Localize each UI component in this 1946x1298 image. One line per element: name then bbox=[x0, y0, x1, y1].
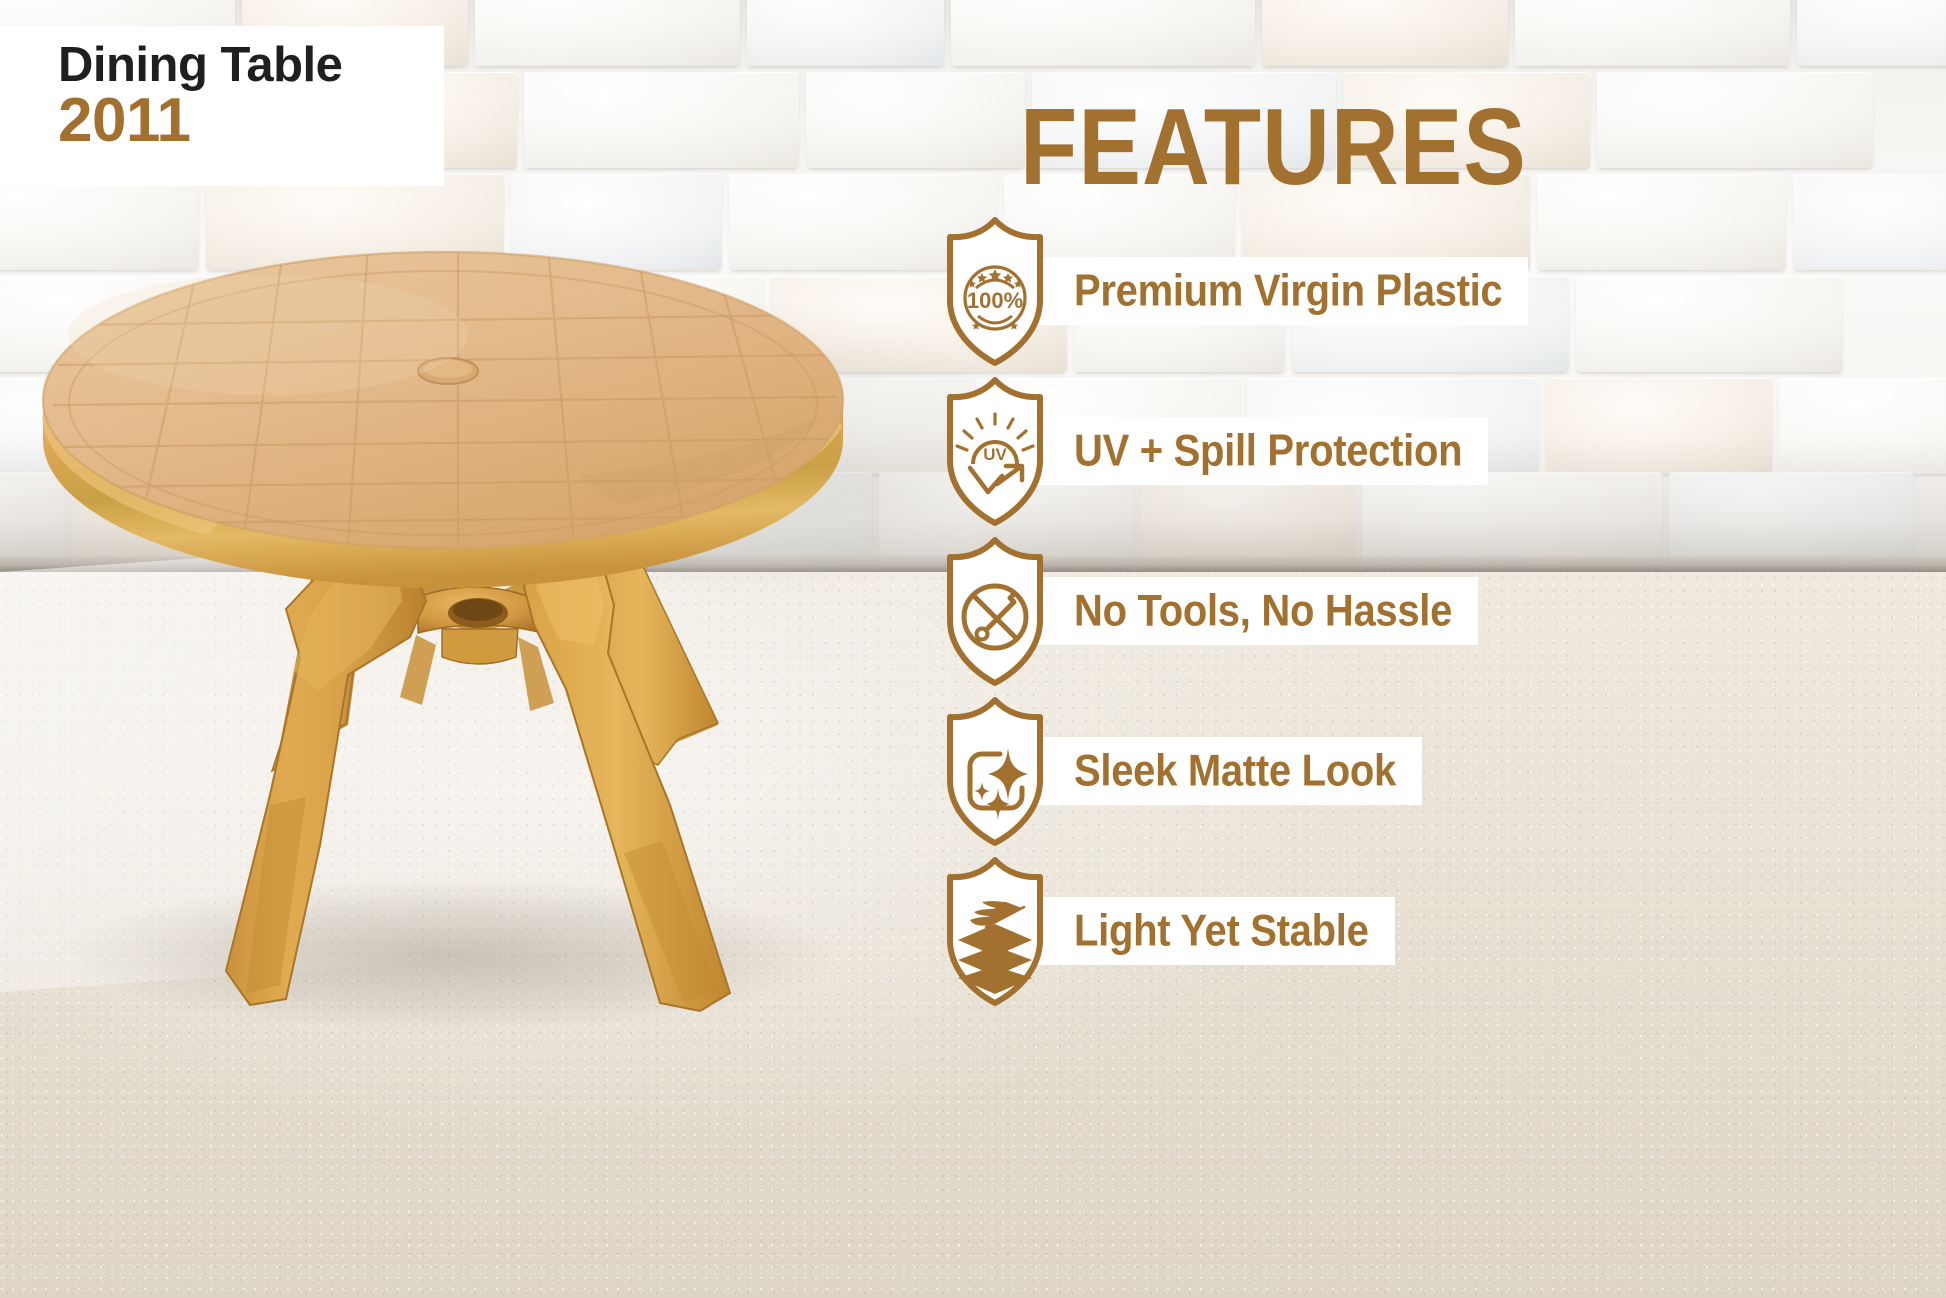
feature-label-text: Light Yet Stable bbox=[1074, 906, 1369, 956]
product-feature-poster: Dining Table 2011 FEATURES bbox=[0, 0, 1946, 1298]
shield-sparkle-icon bbox=[940, 692, 1050, 850]
product-image-dining-table bbox=[18, 205, 938, 1025]
svg-text:100%: 100% bbox=[967, 288, 1023, 313]
feature-label-pill[interactable]: No Tools, No Hassle bbox=[1032, 577, 1478, 645]
feature-row-uv-spill-protection[interactable]: UV UV + Spill Protection bbox=[940, 372, 1488, 530]
features-list: 100% Premium Virgin Plastic bbox=[940, 212, 1946, 1222]
feature-label-text: No Tools, No Hassle bbox=[1074, 586, 1452, 636]
shield-no-tools-icon bbox=[940, 532, 1050, 690]
feature-label-pill[interactable]: Light Yet Stable bbox=[1032, 897, 1395, 965]
feature-label-text: UV + Spill Protection bbox=[1074, 426, 1462, 476]
feature-label-pill[interactable]: Sleek Matte Look bbox=[1032, 737, 1422, 805]
feature-label-text: Premium Virgin Plastic bbox=[1074, 266, 1502, 316]
feature-label-pill[interactable]: UV + Spill Protection bbox=[1032, 417, 1488, 485]
product-title-block: Dining Table 2011 bbox=[0, 26, 444, 186]
shield-uv-sun-icon: UV bbox=[940, 372, 1050, 530]
shield-100-percent-icon: 100% bbox=[940, 212, 1050, 370]
shield-feather-layers-icon bbox=[940, 852, 1050, 1010]
svg-text:UV: UV bbox=[983, 445, 1007, 464]
features-heading: FEATURES bbox=[1020, 93, 1527, 202]
feature-label-pill[interactable]: Premium Virgin Plastic bbox=[1032, 257, 1528, 325]
product-category-label: Dining Table bbox=[58, 40, 444, 92]
feature-row-light-yet-stable[interactable]: Light Yet Stable bbox=[940, 852, 1395, 1010]
product-model-number: 2011 bbox=[58, 90, 444, 152]
feature-label-text: Sleek Matte Look bbox=[1074, 746, 1396, 796]
feature-row-sleek-matte-look[interactable]: Sleek Matte Look bbox=[940, 692, 1422, 850]
feature-row-no-tools-no-hassle[interactable]: No Tools, No Hassle bbox=[940, 532, 1478, 690]
feature-row-premium-virgin-plastic[interactable]: 100% Premium Virgin Plastic bbox=[940, 212, 1528, 370]
